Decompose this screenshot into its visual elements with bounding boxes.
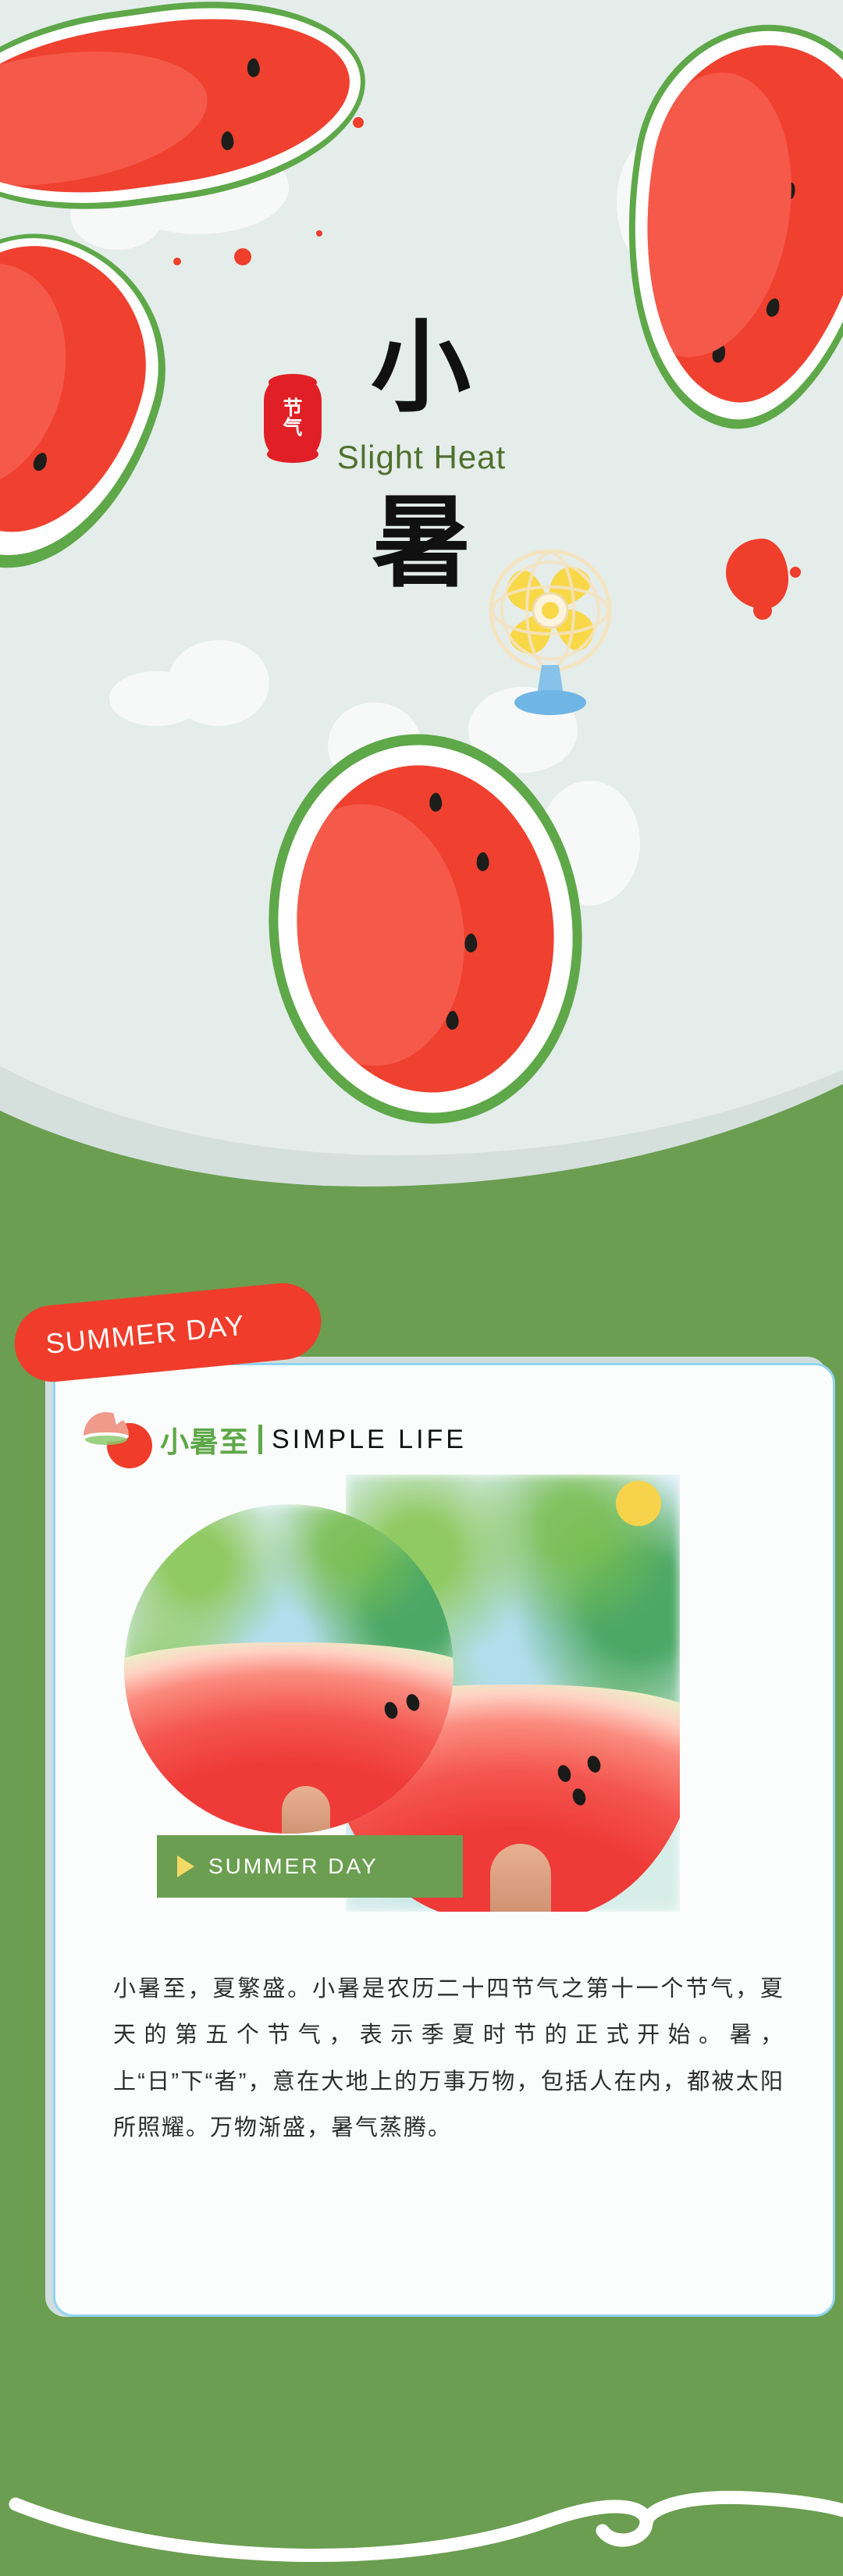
title-char-shu: 暑 — [0, 493, 843, 593]
poster-root: 节 气 小 Slight Heat 暑 SUMMER DAY — [0, 0, 843, 2576]
brand-name-cn: 小暑至 — [160, 1418, 249, 1461]
stamp-char-2: 气 — [283, 418, 302, 439]
title-char-xiao: 小 — [0, 318, 843, 418]
title-subtitle-en: Slight Heat — [0, 439, 843, 476]
watermelon-center — [250, 718, 601, 1139]
watermelon-circle-photo — [124, 1504, 454, 1834]
splatter-dot-5 — [753, 601, 772, 620]
caption-bar: SUMMER DAY — [157, 1835, 463, 1898]
brand-row: 小暑至 SIMPLE LIFE — [82, 1411, 467, 1468]
season-stamp: 节 气 — [264, 381, 322, 456]
splatter-dot-4 — [316, 230, 322, 237]
splatter-dot-2 — [234, 248, 251, 265]
watermelon-slice-logo-icon — [82, 1411, 149, 1468]
footer-wave — [0, 2404, 843, 2576]
content-card: 小暑至 SIMPLE LIFE — [53, 1363, 835, 2317]
electric-fan-icon — [476, 546, 624, 718]
brand-name-en: SIMPLE LIFE — [272, 1425, 467, 1455]
caption-label: SUMMER DAY — [208, 1854, 379, 1879]
hero-title-block: 小 Slight Heat 暑 — [0, 318, 843, 593]
melon-photo-overlay — [124, 1642, 454, 1834]
play-triangle-icon — [177, 1856, 194, 1877]
card-paragraph: 小暑至，夏繁盛。小暑是农历二十四节气之第十一个节气，夏天的第五个节气，表示季夏时… — [113, 1966, 784, 2152]
splatter-dot-3 — [173, 258, 181, 265]
ribbon-label: SUMMER DAY — [13, 1301, 322, 1364]
stamp-char-1: 节 — [283, 399, 302, 419]
sun-dot-icon — [616, 1481, 661, 1526]
cream-splash-4 — [109, 671, 203, 726]
brand-divider — [258, 1425, 262, 1454]
